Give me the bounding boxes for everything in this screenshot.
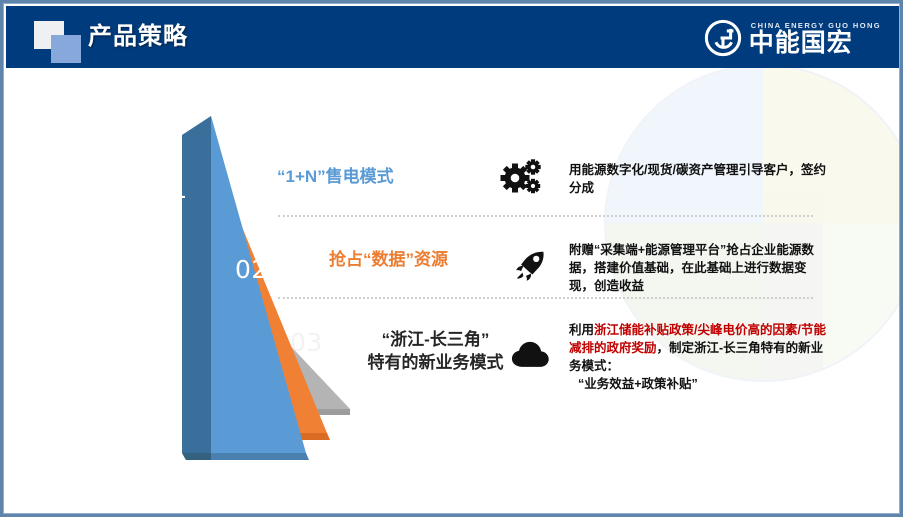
- row-title-2: 抢占“数据”资源: [329, 248, 448, 271]
- header-square-blue-icon: [51, 35, 81, 63]
- brand-logo: CHINA ENERGY GUO HONG 中能国宏: [704, 18, 881, 58]
- page-title: 产品策略: [88, 20, 188, 54]
- row-description-3-segment-4: “业务效益+政策补贴”: [569, 375, 831, 393]
- row-description-3-segment-1: 利用: [569, 323, 594, 337]
- pyramid-number-02: 02: [235, 255, 268, 284]
- cloud-icon: [508, 333, 554, 377]
- row-title-1: “1+N”售电模式: [277, 165, 394, 188]
- row-separator-2: [278, 297, 813, 299]
- row-description-2-line-1: 附赠“采集端+能源管理平台”抢占企: [569, 243, 764, 257]
- row-description-1-line-1: 用能源数字化/现货/碳资产管理引导客: [569, 163, 776, 177]
- row-description-2: 附赠“采集端+能源管理平台”抢占企业能源数据，搭建价值基础，在此基础上进行数据变…: [569, 241, 831, 295]
- row-separator-1: [278, 215, 813, 217]
- row-description-3: 利用浙江储能补贴政策/尖峰电价高的因素/节能减排的政府奖励，制定浙江-长三角特有…: [569, 321, 831, 393]
- slide-header-bar: 产品策略 CHINA ENERGY GUO HONG 中能国宏: [6, 6, 903, 68]
- pyramid-number-03: 03: [290, 328, 323, 357]
- brand-name-chinese: 中能国宏: [749, 30, 881, 56]
- row-description-1: 用能源数字化/现货/碳资产管理引导客户，签约分成: [569, 161, 831, 197]
- circle-g-logo-icon: [704, 19, 742, 57]
- pyramid-number-01: 01: [155, 175, 188, 204]
- slide-canvas: 产品策略 CHINA ENERGY GUO HONG 中能国宏: [0, 0, 903, 517]
- rocket-icon: [508, 244, 554, 288]
- row-title-3: “浙江-长三角” 特有的新业务模式: [353, 328, 518, 374]
- gears-icon: [499, 155, 545, 199]
- brand-logo-text: CHINA ENERGY GUO HONG 中能国宏: [749, 21, 881, 56]
